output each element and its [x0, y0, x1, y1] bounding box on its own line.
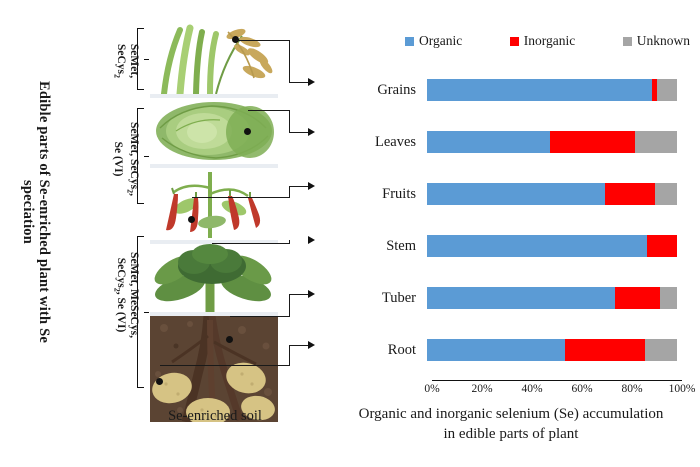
bar-segment-inorganic[interactable]	[605, 183, 655, 205]
bar-category-label: Leaves	[375, 134, 427, 151]
bar-segment-unknown[interactable]	[655, 183, 678, 205]
vertical-axis-label: Edible parts of Se-enriched plant with S…	[18, 62, 52, 362]
potato-root-soil-image	[150, 316, 278, 422]
bar-category-label: Stem	[375, 238, 427, 255]
bar-segment-organic[interactable]	[427, 79, 652, 101]
leader-line-stem-v	[289, 240, 290, 243]
x-tick-label: 60%	[571, 383, 592, 395]
chart-caption-line-2: in edible parts of plant	[325, 424, 697, 444]
plant-illustration-panel: Edible parts of Se-enriched plant with S…	[0, 0, 320, 467]
bar-segment-inorganic[interactable]	[647, 235, 677, 257]
leader-line-root	[160, 365, 290, 366]
bar-segment-organic[interactable]	[427, 235, 647, 257]
leader-line-root-h2	[289, 345, 309, 346]
x-tick-label: 40%	[521, 383, 542, 395]
bar-track	[427, 79, 677, 101]
stacked-bar-chart: OrganicInorganicUnknown GrainsLeavesFrui…	[320, 0, 700, 467]
cabbage-leaf-plant-image	[150, 98, 278, 162]
legend-label: Unknown	[637, 33, 690, 49]
x-axis-tick-labels: 0%20%40%60%80%100%	[432, 383, 682, 401]
leader-line-fruits	[192, 197, 290, 198]
leader-line-fruits-h2	[289, 186, 309, 187]
x-axis-line	[432, 380, 682, 381]
leader-line-grains-h2	[289, 82, 309, 83]
bar-segment-organic[interactable]	[427, 339, 565, 361]
callout-dot-tuber	[226, 336, 233, 343]
x-tick-label: 20%	[471, 383, 492, 395]
bar-row-root: Root	[375, 324, 695, 376]
chart-plot-area: GrainsLeavesFruitsStemTuberRoot	[375, 64, 695, 380]
bar-segment-organic[interactable]	[427, 131, 550, 153]
leader-line-leaves-v	[289, 110, 290, 132]
bar-category-label: Fruits	[375, 186, 427, 203]
bar-track	[427, 235, 677, 257]
arrow-fruits	[308, 182, 315, 190]
chili-fruit-plant-image	[150, 168, 278, 238]
bar-segment-inorganic[interactable]	[565, 339, 645, 361]
leader-line-tuber-h2	[289, 294, 309, 295]
broccoli-stem-plant-image	[150, 244, 278, 312]
bar-segment-organic[interactable]	[427, 287, 615, 309]
legend-item-organic[interactable]: Organic	[405, 33, 462, 49]
bar-segment-unknown[interactable]	[645, 339, 678, 361]
x-tick-label: 100%	[669, 383, 696, 395]
bar-segment-inorganic[interactable]	[615, 287, 660, 309]
bracket-leaves-fruits	[137, 108, 144, 204]
speciation-label-grains: SeMet,SeCys2	[111, 24, 140, 98]
bar-track	[427, 131, 677, 153]
bar-segment-inorganic[interactable]	[550, 131, 635, 153]
leader-line-grains	[236, 40, 290, 41]
bar-category-label: Root	[375, 342, 427, 359]
x-tick-label: 80%	[621, 383, 642, 395]
bar-segment-unknown[interactable]	[660, 287, 678, 309]
leader-line-leaves-h2	[289, 132, 309, 133]
legend-label: Organic	[419, 33, 462, 49]
rice-grain-plant-image	[150, 22, 278, 94]
legend-swatch-icon	[405, 37, 414, 46]
speciation-label-stem-root: SeMet, MeSeCys,SeCys2, Se (VI)	[111, 230, 140, 360]
arrow-root	[308, 341, 315, 349]
bar-category-label: Tuber	[375, 290, 427, 307]
bar-row-leaves: Leaves	[375, 116, 695, 168]
bar-track	[427, 339, 677, 361]
soil-caption: Se-enriched soil	[120, 408, 310, 425]
bar-segment-unknown[interactable]	[635, 131, 678, 153]
bar-row-stem: Stem	[375, 220, 695, 272]
bar-track	[427, 183, 677, 205]
bar-segment-organic[interactable]	[427, 183, 605, 205]
legend-item-inorganic[interactable]: Inorganic	[510, 33, 575, 49]
leader-line-tuber-v	[289, 294, 290, 316]
callout-dot-fruits	[188, 216, 195, 223]
leader-line-stem	[212, 243, 290, 244]
leader-line-grains-v	[289, 40, 290, 82]
bar-row-grains: Grains	[375, 64, 695, 116]
legend-swatch-icon	[510, 37, 519, 46]
callout-dot-root	[156, 378, 163, 385]
leader-line-tuber	[230, 316, 290, 317]
leader-line-root-v	[289, 345, 290, 365]
bracket-grains	[137, 28, 144, 90]
bar-row-tuber: Tuber	[375, 272, 695, 324]
arrow-tuber	[308, 290, 315, 298]
callout-dot-leaves	[244, 128, 251, 135]
leader-line-fruits-v	[289, 186, 290, 197]
bracket-stem-root	[137, 236, 144, 388]
arrow-grains	[308, 78, 315, 86]
arrow-leaves	[308, 128, 315, 136]
bar-row-fruits: Fruits	[375, 168, 695, 220]
legend-label: Inorganic	[524, 33, 575, 49]
speciation-label-leaves-fruits: SeMet, SeCys2,Se (VI)	[111, 104, 140, 214]
legend-item-unknown[interactable]: Unknown	[623, 33, 690, 49]
leader-line-leaves	[248, 110, 290, 111]
chart-caption-line-1: Organic and inorganic selenium (Se) accu…	[325, 404, 697, 424]
x-tick-label: 0%	[424, 383, 439, 395]
plant-stack	[150, 22, 278, 400]
bar-category-label: Grains	[375, 82, 427, 99]
legend-swatch-icon	[623, 37, 632, 46]
chart-legend: OrganicInorganicUnknown	[405, 33, 690, 49]
bar-segment-unknown[interactable]	[657, 79, 677, 101]
bar-track	[427, 287, 677, 309]
chart-caption: Organic and inorganic selenium (Se) accu…	[325, 404, 697, 444]
arrow-stem	[308, 236, 315, 244]
